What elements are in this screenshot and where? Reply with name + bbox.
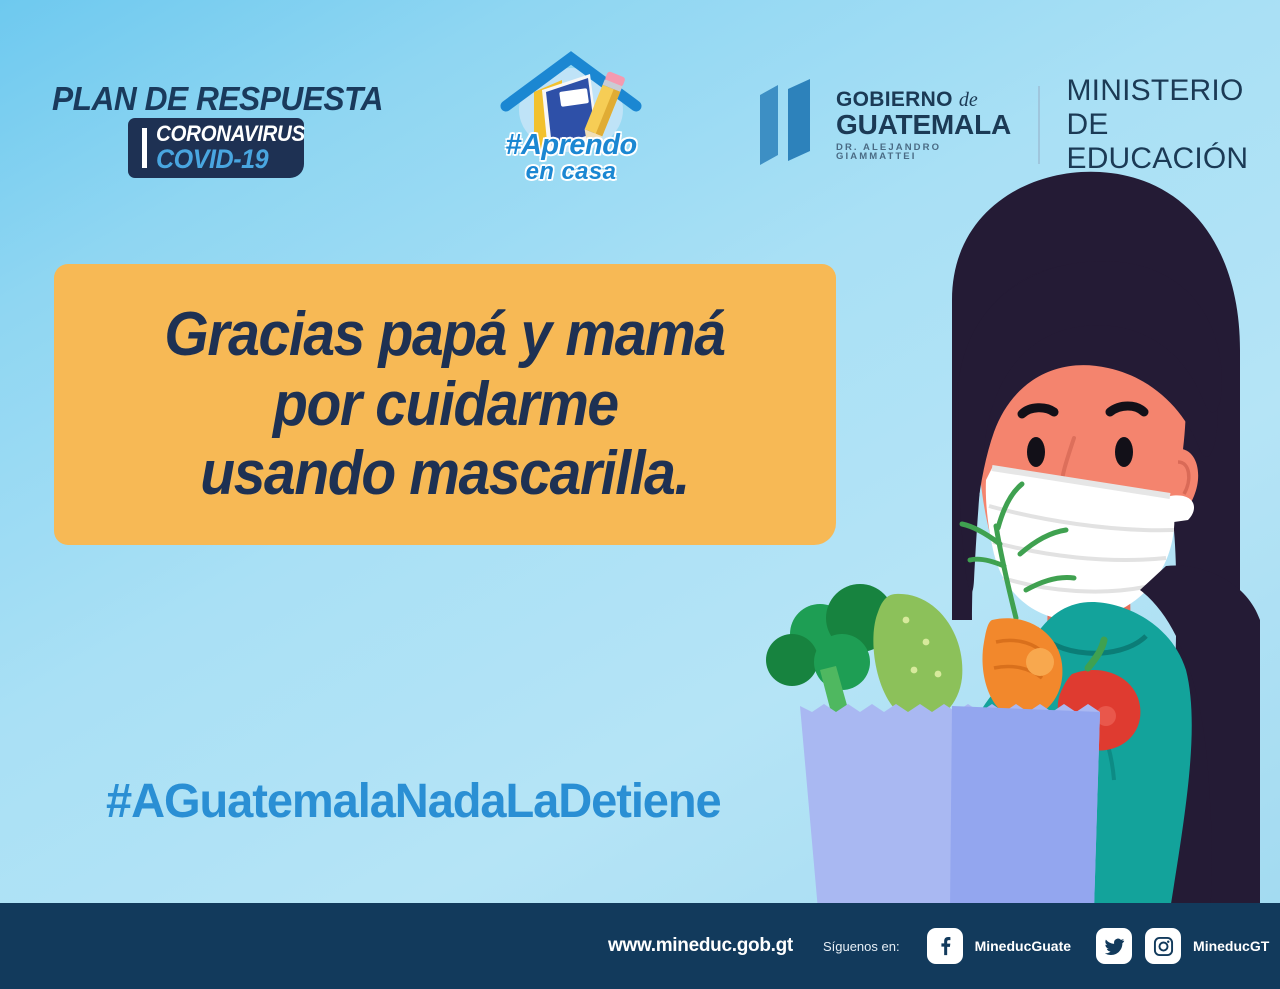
facebook-icon[interactable] — [927, 928, 963, 964]
headline-line-2: por cuidarme — [273, 370, 618, 439]
twitter-glyph — [1104, 936, 1125, 957]
twitter-icon[interactable] — [1096, 928, 1132, 964]
headline-line-3: usando mascarilla. — [201, 439, 690, 508]
left-eye — [1027, 437, 1045, 467]
aprendo-line-1: #Aprendo — [476, 132, 666, 159]
aprendo-logo-text: #Aprendo en casa — [476, 132, 666, 183]
ministry-line-1: MINISTERIO DE — [1066, 74, 1280, 142]
badge-coronavirus-label: CORONAVIRUS — [156, 123, 305, 145]
facebook-glyph — [935, 936, 955, 956]
broccoli-head-3 — [766, 634, 818, 686]
gov-line-gobierno: GOBIERNO de — [836, 89, 1014, 110]
follow-us-label: Síguenos en: — [823, 939, 900, 954]
badge-text-lines: CORONAVIRUS COVID-19 — [156, 123, 316, 173]
paper-bag-side — [950, 706, 1100, 910]
instagram-icon[interactable] — [1145, 928, 1181, 964]
gov-line-guatemala: GUATEMALA — [836, 111, 1014, 139]
campaign-hashtag: #AGuatemalaNadaLaDetiene — [106, 774, 721, 829]
plan-de-respuesta-title: PLAN DE RESPUESTA — [52, 80, 383, 118]
aprendo-en-casa-logo: #Aprendo en casa — [476, 48, 666, 188]
website-url[interactable]: www.mineduc.gob.gt — [608, 935, 793, 957]
poster-canvas: PLAN DE RESPUESTA CORONAVIRUS COVID-19 — [0, 0, 1280, 989]
badge-covid19-label: COVID-19 — [156, 146, 305, 173]
badge-accent-bar — [142, 128, 147, 168]
instagram-glyph — [1153, 936, 1174, 957]
instagram-handle[interactable]: MineducGT — [1193, 938, 1269, 954]
aprendo-line-2: en casa — [476, 161, 666, 183]
right-eye — [1115, 437, 1133, 467]
covid-19-badge: CORONAVIRUS COVID-19 — [128, 118, 304, 178]
footer-bar: www.mineduc.gob.gt Síguenos en: MineducG… — [0, 903, 1280, 989]
broccoli-head-4 — [814, 634, 870, 690]
footer-content: www.mineduc.gob.gt Síguenos en: MineducG… — [608, 928, 1269, 964]
headline-line-1: Gracias papá y mamá — [165, 300, 725, 369]
headline-panel: Gracias papá y mamá por cuidarme usando … — [54, 264, 836, 545]
facebook-handle[interactable]: MineducGuate — [975, 938, 1071, 954]
cucumber — [873, 594, 962, 722]
